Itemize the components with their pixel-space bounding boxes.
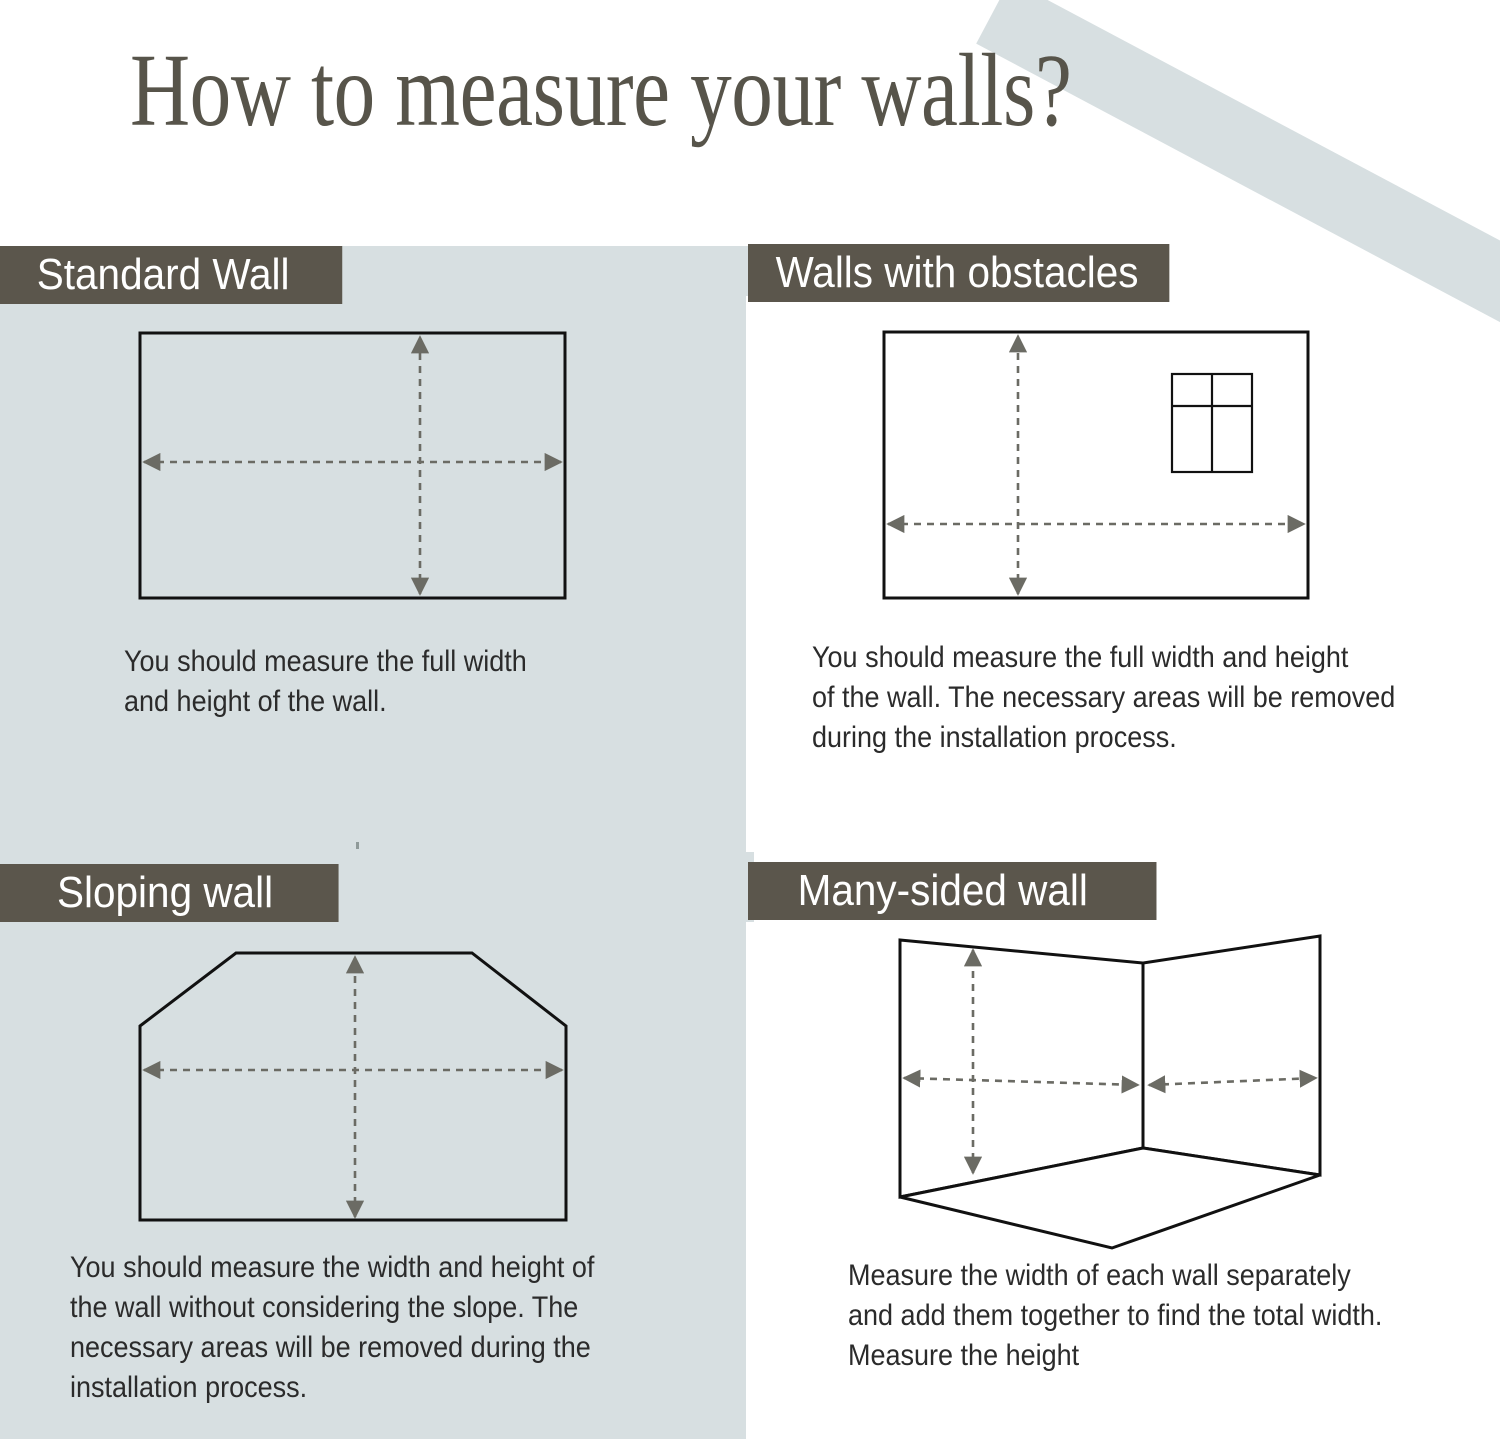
caption-walls-with-obstacles: You should measure the full width and he… — [812, 638, 1460, 758]
section-header-sloping-wall: Sloping wall — [0, 864, 339, 922]
section-header-standard-wall: Standard Wall — [0, 246, 342, 304]
sloping-wall-diagram — [120, 930, 600, 1240]
section-header-many-sided-wall: Many-sided wall — [748, 862, 1156, 920]
caption-sloping-wall: You should measure the width and height … — [70, 1248, 682, 1408]
sloped-wall-outline — [140, 953, 566, 1220]
caption-standard-wall: You should measure the full width and he… — [124, 642, 628, 722]
section-header-walls-with-obstacles: Walls with obstacles — [748, 244, 1169, 302]
window-obstacle-icon — [1172, 374, 1252, 472]
page-title: How to measure your walls? — [130, 36, 1130, 146]
right-wall-face — [1143, 936, 1320, 1175]
caption-many-sided-wall: Measure the width of each wall separatel… — [848, 1256, 1478, 1376]
infographic-root: How to measure your walls? Standard Wall… — [0, 0, 1500, 1439]
stray-tick-mark — [356, 842, 359, 849]
walls-with-obstacles-diagram — [860, 320, 1340, 620]
wall-outline — [140, 333, 565, 598]
many-sided-wall-diagram — [870, 920, 1350, 1265]
standard-wall-diagram — [120, 320, 600, 620]
